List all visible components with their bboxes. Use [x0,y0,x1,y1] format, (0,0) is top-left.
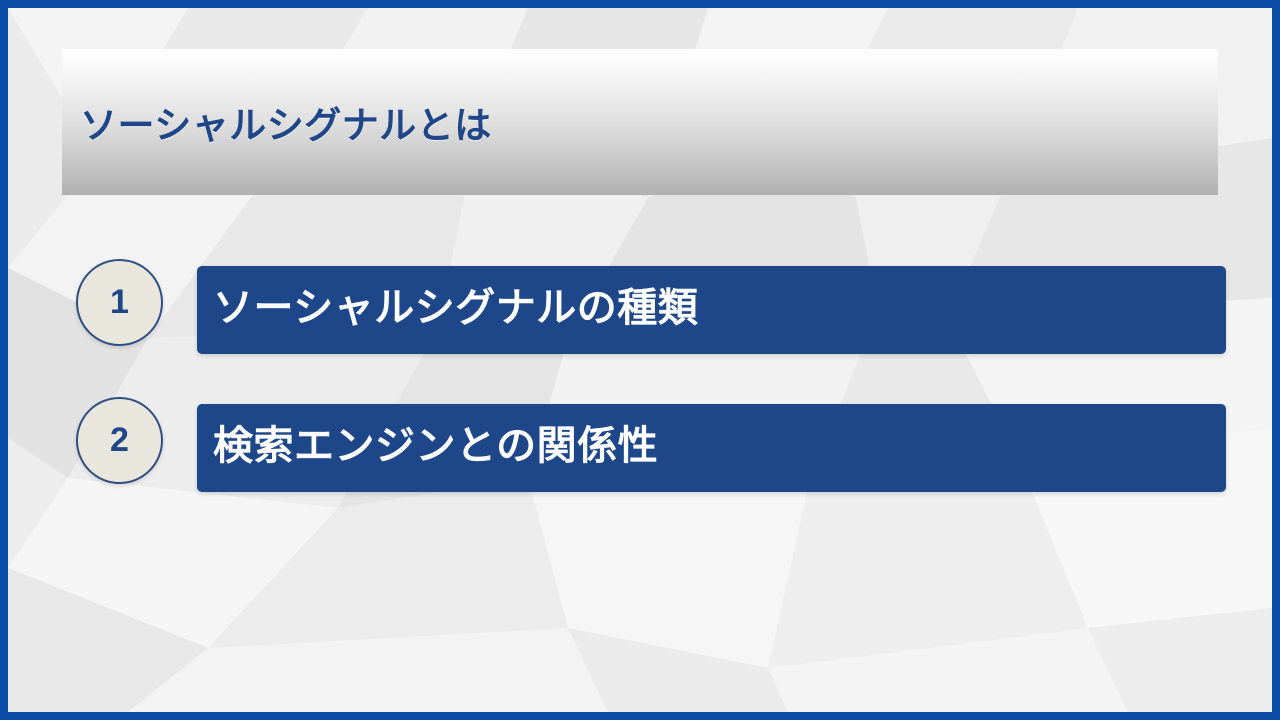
item-number-label: 1 [110,285,129,319]
slide-canvas: ソーシャルシグナルとは 1 ソーシャルシグナルの種類 2 検索エンジンとの関係性 [8,8,1272,712]
item-number-badge: 1 [76,259,163,346]
item-bar[interactable]: 検索エンジンとの関係性 [197,404,1226,492]
item-bar[interactable]: ソーシャルシグナルの種類 [197,266,1226,354]
page-title: ソーシャルシグナルとは [80,95,492,149]
item-label: 検索エンジンとの関係性 [213,426,658,466]
list-item[interactable]: 2 検索エンジンとの関係性 [70,394,1226,486]
list-item[interactable]: 1 ソーシャルシグナルの種類 [70,256,1226,348]
slide-frame: ソーシャルシグナルとは 1 ソーシャルシグナルの種類 2 検索エンジンとの関係性 [0,0,1280,720]
item-label: ソーシャルシグナルの種類 [213,288,698,328]
slide-title-bar: ソーシャルシグナルとは [62,49,1218,195]
item-number-label: 2 [110,423,129,457]
item-number-badge: 2 [76,397,163,484]
